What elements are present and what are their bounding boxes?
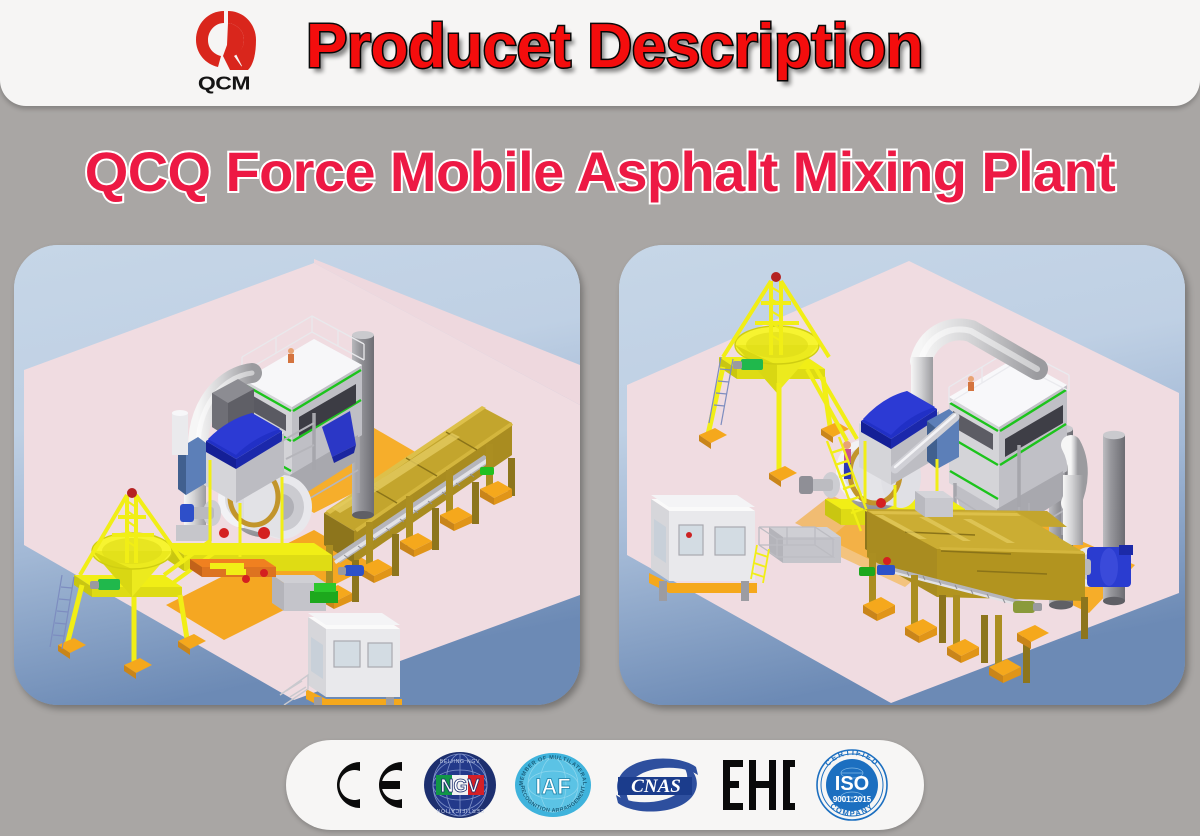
iaf-label: IAF <box>536 774 571 799</box>
worker-figure <box>968 376 974 391</box>
worker-figure <box>288 348 294 363</box>
slide-root: QCM Producet Description QCQ Force Mobil… <box>0 0 1200 836</box>
ngv-label: NGV <box>441 776 480 796</box>
plant-illustration-2 <box>619 245 1185 705</box>
header-bar: QCM Producet Description <box>0 0 1200 106</box>
product-title: QCQ Force Mobile Asphalt Mixing Plant <box>0 139 1200 204</box>
control-cabin-2 <box>649 495 757 601</box>
cnas-badge-icon: CNAS <box>610 753 704 817</box>
plant-illustration-1 <box>14 245 580 705</box>
ce-mark-icon <box>320 754 406 816</box>
svg-text:BEIJING NGV: BEIJING NGV <box>440 759 480 765</box>
asphalt-plant-render-view-2[interactable] <box>619 245 1185 705</box>
logo-wordmark: QCM <box>176 72 272 94</box>
certification-badges: NGV BEIJING NGV CERTIFICATION IAF MEMBER… <box>286 740 924 830</box>
qcm-q-logo-icon <box>176 8 272 72</box>
iso-label: ISO <box>835 773 869 795</box>
eac-mark-icon <box>721 754 797 816</box>
iaf-badge-icon: IAF MEMBER OF MULTILATERAL RECOGNITION A… <box>514 751 592 819</box>
iso-standard: 9001:2015 <box>833 795 872 804</box>
page-title: Producet Description <box>306 11 923 82</box>
cnas-label: CNAS <box>631 776 681 797</box>
ngv-badge-icon: NGV BEIJING NGV CERTIFICATION <box>423 751 497 819</box>
iso-badge-icon: ISO 9001:2015 CERTIFIED COMPANY <box>814 747 890 823</box>
asphalt-plant-render-view-1[interactable] <box>14 245 580 705</box>
svg-text:CERTIFICATION: CERTIFICATION <box>436 807 484 813</box>
brand-logo: QCM <box>176 8 272 100</box>
